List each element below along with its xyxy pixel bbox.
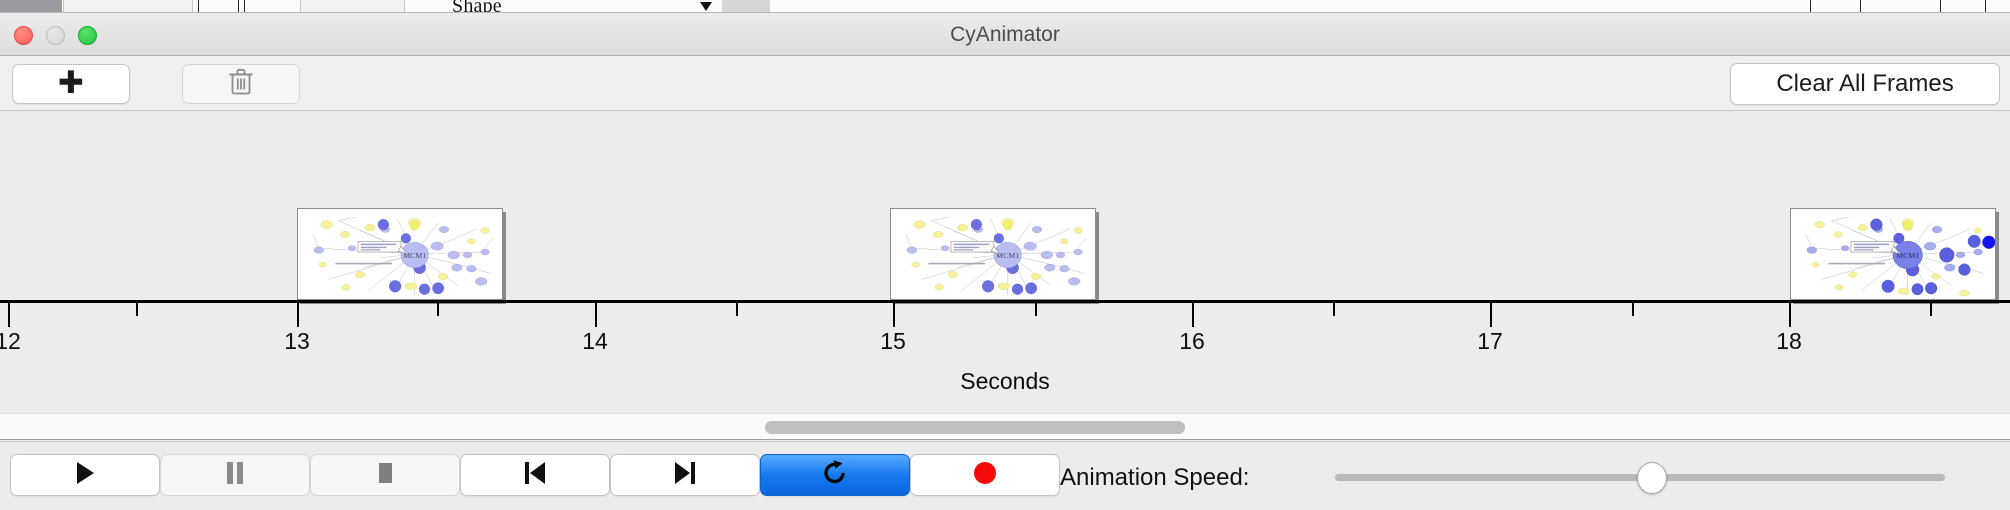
frame-thumbnail-1[interactable]: MCM1: [297, 208, 503, 300]
pause-icon: [225, 461, 245, 490]
prev-frame-button[interactable]: [460, 454, 610, 496]
axis-tick-label: 17: [1477, 328, 1503, 355]
axis-tick-label: 13: [284, 328, 310, 355]
axis-tick-minor: [1930, 303, 1932, 316]
axis-tick-minor: [437, 303, 439, 316]
timeline-scrollbar[interactable]: [0, 413, 2010, 440]
axis-tick-major: [1192, 303, 1194, 327]
axis-tick-minor: [1035, 303, 1037, 316]
add-frame-button[interactable]: ✚: [12, 64, 130, 104]
axis-tick-label: 18: [1776, 328, 1802, 355]
axis-title: Seconds: [0, 368, 2010, 395]
title-bar: CyAnimator: [0, 13, 2010, 56]
stop-icon: [375, 461, 395, 490]
window-title: CyAnimator: [0, 13, 2010, 56]
pause-button[interactable]: [160, 454, 310, 496]
slider-thumb[interactable]: [1637, 462, 1667, 494]
axis-tick-major: [893, 303, 895, 327]
cyanimator-window: Shape CyAnimator ✚: [0, 0, 2010, 510]
frame-toolbar: ✚ Clear All Frames: [0, 56, 2010, 111]
network-graph-mcm1-icon: MCM1: [1791, 209, 1995, 299]
record-button[interactable]: [910, 454, 1060, 496]
loop-icon: [822, 459, 848, 492]
axis-tick-minor: [1333, 303, 1335, 316]
axis-tick-label: 14: [582, 328, 608, 355]
frame-thumbnail-3[interactable]: MCM1: [1790, 208, 1996, 300]
svg-text:MCM1: MCM1: [1896, 251, 1919, 260]
axis-tick-minor: [136, 303, 138, 316]
clear-all-frames-button[interactable]: Clear All Frames: [1730, 63, 2000, 105]
delete-frame-button[interactable]: [182, 64, 300, 104]
svg-text:MCM1: MCM1: [403, 251, 426, 260]
timeline-scrollbar-thumb[interactable]: [765, 421, 1185, 434]
network-graph-mcm1-icon: MCM1: [891, 209, 1095, 299]
axis-tick-label: 12: [0, 328, 21, 355]
background-window-strip: Shape: [0, 0, 2010, 13]
timeline-panel: MCM1: [0, 111, 2010, 413]
animation-speed-label: Animation Speed:: [1060, 464, 1249, 492]
svg-text:MCM1: MCM1: [996, 251, 1019, 260]
axis-tick-label: 15: [880, 328, 906, 355]
next-frame-button[interactable]: [610, 454, 760, 496]
axis-line: [0, 300, 2010, 303]
timeline-axis[interactable]: 12 13 14 15 16 17 18 Seconds: [0, 300, 2010, 413]
trash-icon: [228, 67, 254, 102]
loop-button[interactable]: [760, 454, 910, 496]
play-icon: [75, 461, 95, 490]
axis-tick-major: [595, 303, 597, 327]
frame-thumbnail-2[interactable]: MCM1: [890, 208, 1096, 300]
axis-tick-label: 16: [1179, 328, 1205, 355]
frames-area[interactable]: MCM1: [0, 111, 2010, 300]
network-graph-mcm1-icon: MCM1: [298, 209, 502, 299]
record-icon: [972, 460, 998, 491]
animation-speed-slider[interactable]: [1335, 474, 1945, 481]
plus-icon: ✚: [58, 67, 84, 98]
skip-end-icon: [673, 461, 697, 490]
axis-tick-major: [1789, 303, 1791, 327]
axis-tick-minor: [736, 303, 738, 316]
play-button[interactable]: [10, 454, 160, 496]
skip-start-icon: [523, 461, 547, 490]
playback-bar: Animation Speed:: [0, 441, 2010, 510]
axis-tick-major: [297, 303, 299, 327]
axis-tick-major: [1490, 303, 1492, 327]
stop-button[interactable]: [310, 454, 460, 496]
axis-tick-minor: [1632, 303, 1634, 316]
background-window-label: Shape: [452, 0, 502, 13]
axis-tick-major: [8, 303, 10, 327]
